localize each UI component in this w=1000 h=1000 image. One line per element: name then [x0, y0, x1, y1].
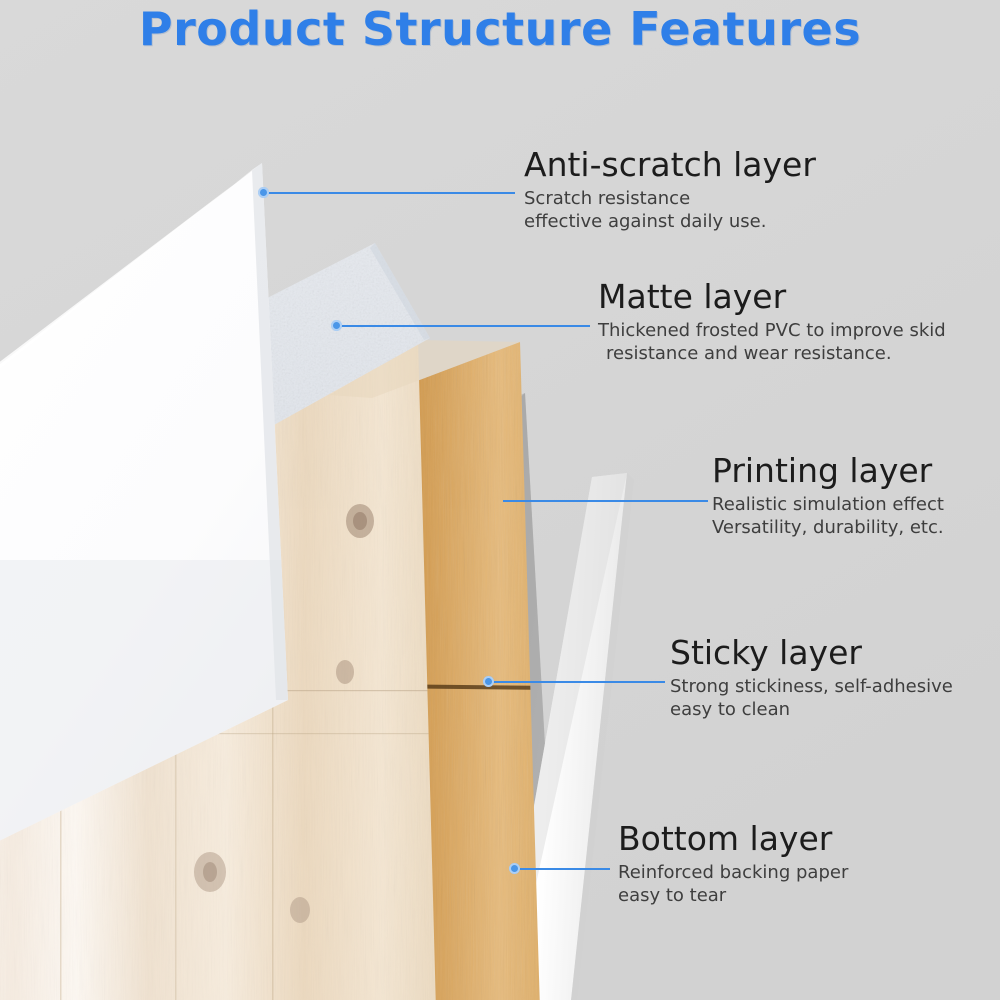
- leader-line: [336, 325, 590, 327]
- callout-description-line1: Strong stickiness, self-adhesive: [670, 675, 953, 698]
- callout-heading: Sticky layer: [670, 634, 953, 672]
- leader-line: [503, 500, 708, 502]
- infographic-canvas: Product Structure Features Anti-scratch …: [0, 0, 1000, 1000]
- callout-description-line2: Versatility, durability, etc.: [712, 516, 944, 539]
- callout-description-line2: resistance and wear resistance.: [598, 342, 946, 365]
- callout-heading: Matte layer: [598, 278, 946, 316]
- callout-description-line2: easy to tear: [618, 884, 848, 907]
- callout-description: Reinforced backing paper easy to tear: [618, 861, 848, 907]
- callout-description: Realistic simulation effect Versatility,…: [712, 493, 944, 539]
- callout-description: Strong stickiness, self-adhesive easy to…: [670, 675, 953, 721]
- leader-dot: [331, 320, 342, 331]
- callout-heading: Bottom layer: [618, 820, 848, 858]
- leader-line: [514, 868, 610, 870]
- callout-description-line1: Thickened frosted PVC to improve skid: [598, 319, 946, 342]
- leader-line: [488, 681, 665, 683]
- callout-description-line1: Reinforced backing paper: [618, 861, 848, 884]
- callout-description: Thickened frosted PVC to improve skid re…: [598, 319, 946, 365]
- leader-dot: [509, 863, 520, 874]
- leader-dot: [258, 187, 269, 198]
- callout-heading: Anti-scratch layer: [524, 146, 816, 184]
- page-title: Product Structure Features: [0, 2, 1000, 56]
- callout-description-line1: Scratch resistance: [524, 187, 816, 210]
- callout-heading: Printing layer: [712, 452, 944, 490]
- callout-description-line1: Realistic simulation effect: [712, 493, 944, 516]
- callout-description: Scratch resistance effective against dai…: [524, 187, 816, 233]
- leader-dot: [483, 676, 494, 687]
- callout-description-line2: easy to clean: [670, 698, 953, 721]
- leader-line: [263, 192, 515, 194]
- callout-description-line2: effective against daily use.: [524, 210, 816, 233]
